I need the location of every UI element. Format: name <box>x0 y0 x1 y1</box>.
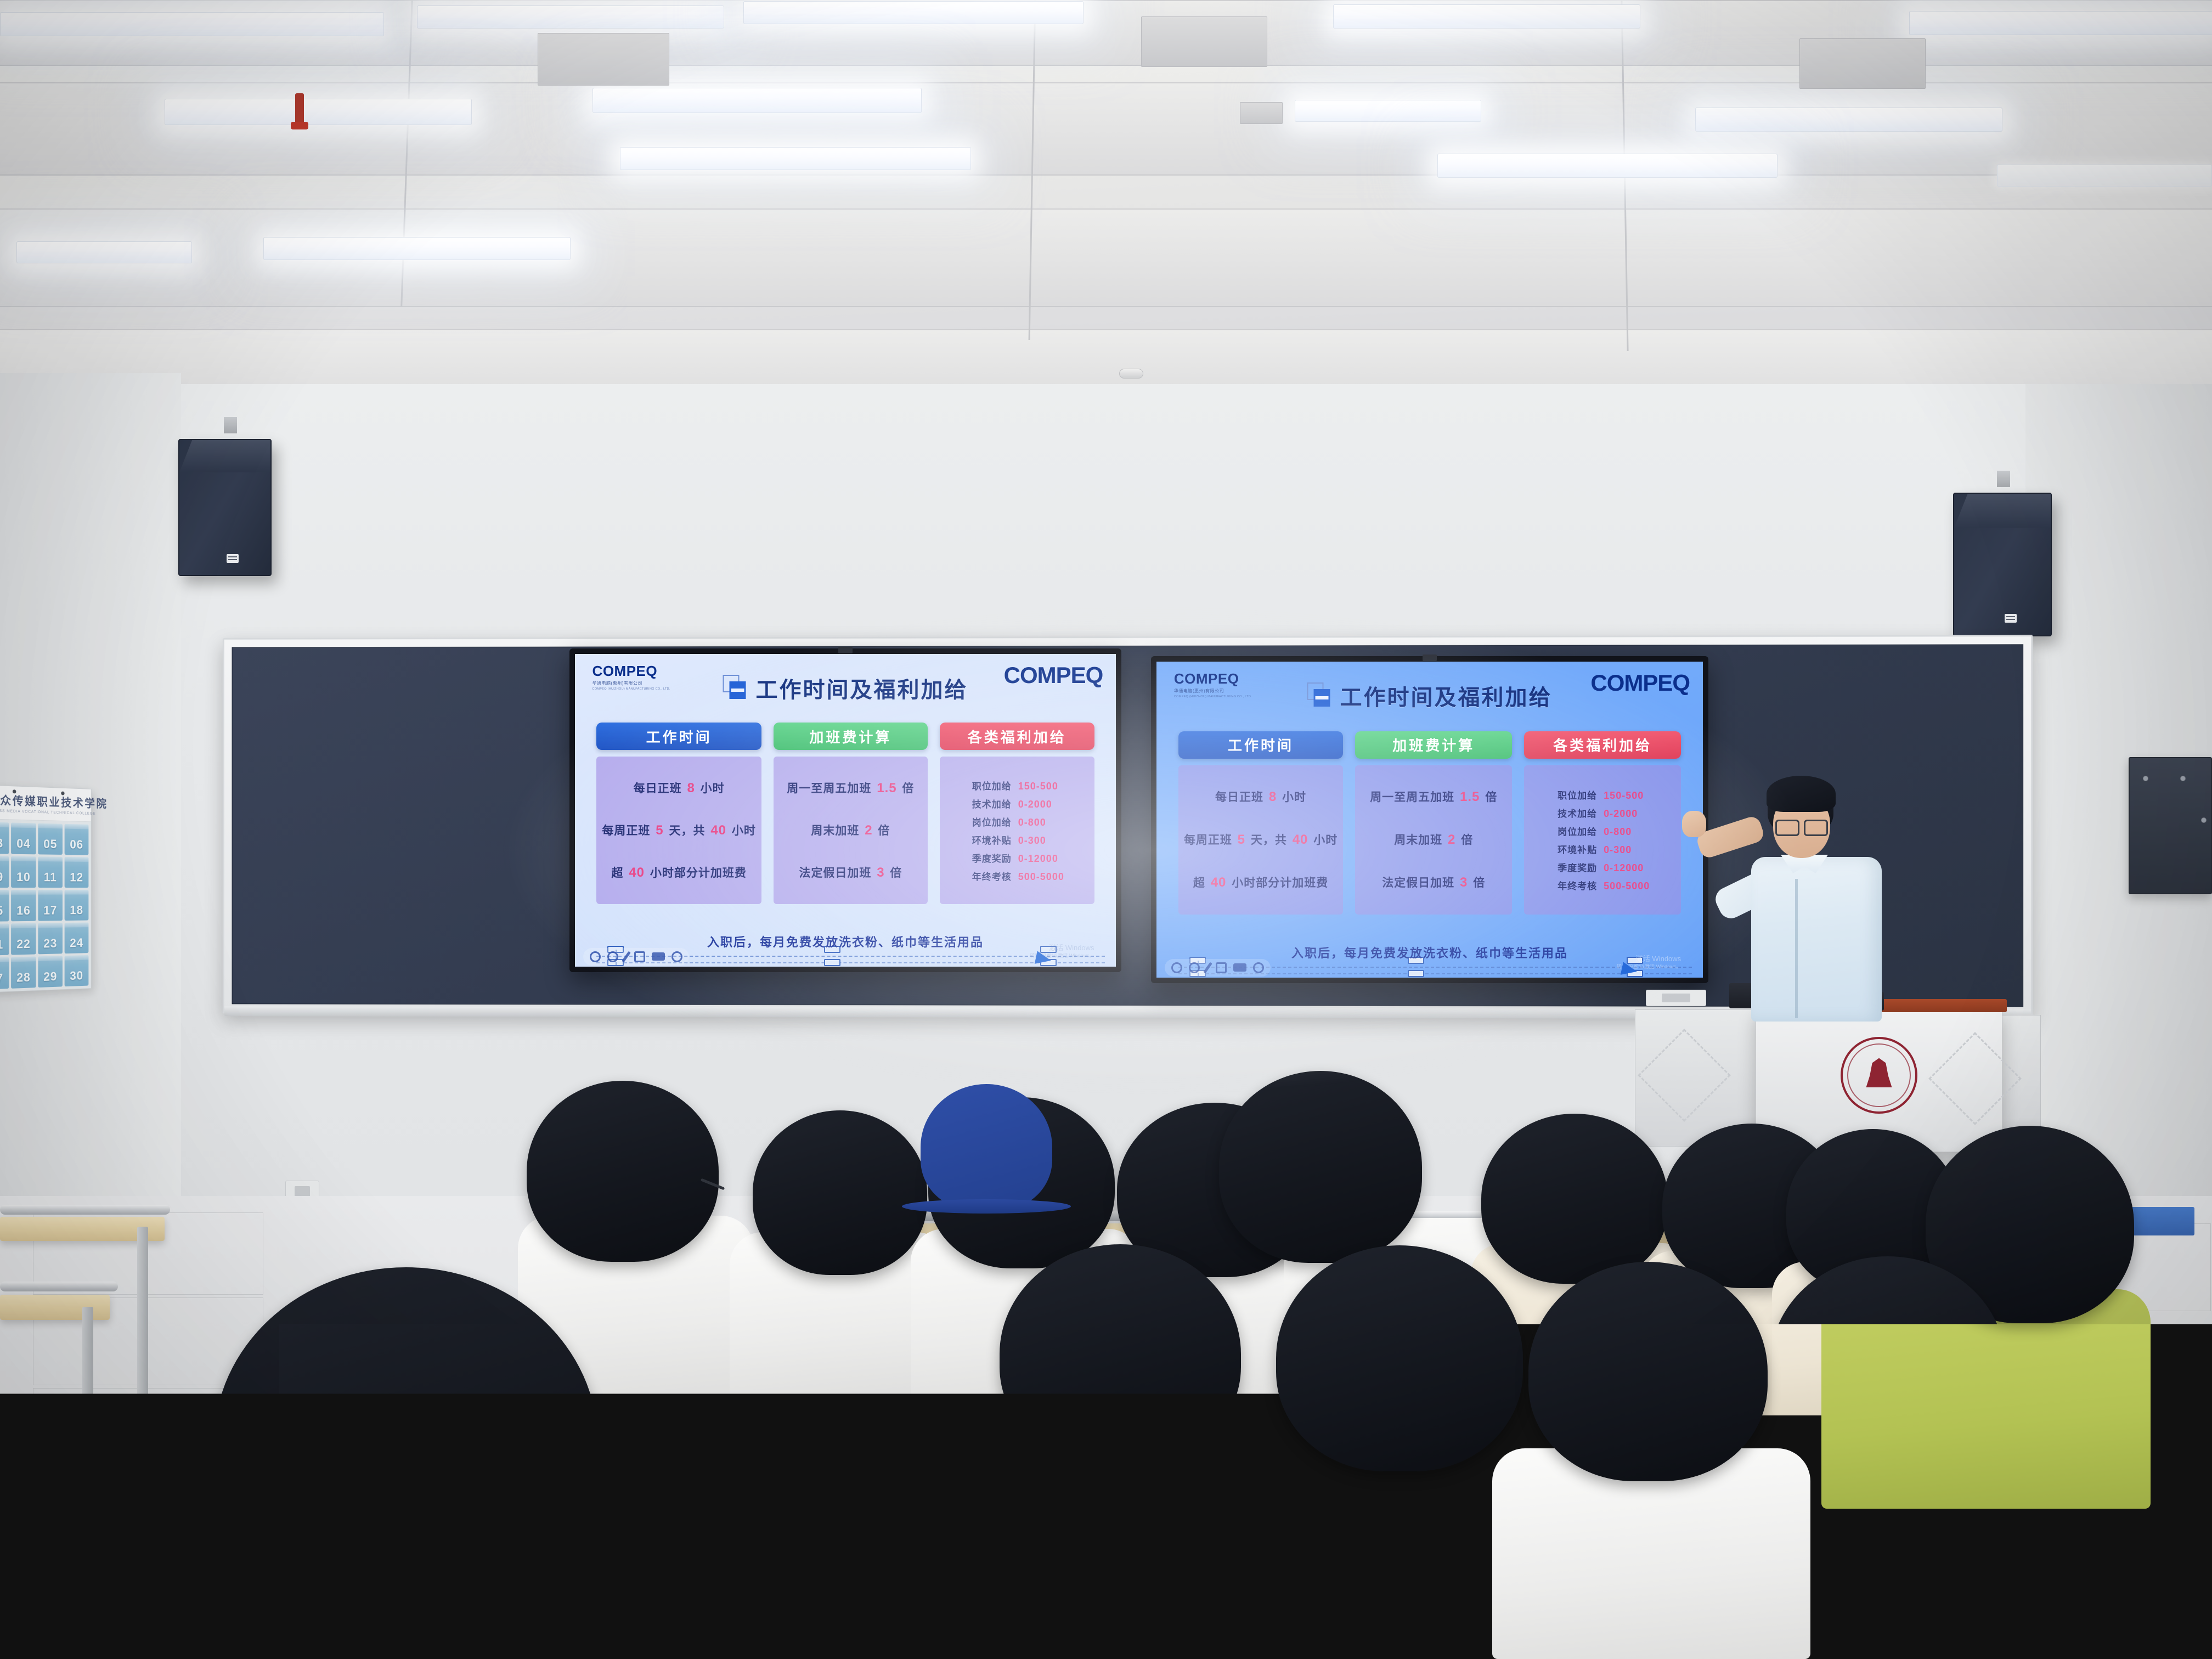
organizer-pocket[interactable]: 27 <box>0 957 9 990</box>
stacked-chair <box>2129 1207 2194 1235</box>
ceiling-vent <box>538 33 669 86</box>
ceiling-light <box>1909 11 2212 35</box>
audience-head <box>214 1267 598 1618</box>
organizer-pocket[interactable]: 30 <box>65 955 89 986</box>
compeq-logo-en: COMPEQ (HUIZHOU) MANUFACTURING CO., LTD. <box>592 687 670 691</box>
slide-footer-note: 入职后，每月免费发放洗衣粉、纸巾等生活用品 <box>707 933 984 950</box>
benefit-row: 环境补贴0-300 <box>1532 842 1673 856</box>
circle-icon[interactable] <box>1171 962 1182 973</box>
organizer-pocket-number: 17 <box>43 903 57 918</box>
smartboard-left[interactable]: COMPEQ华通电脑(惠州)有限公司COMPEQ (HUIZHOU) MANUF… <box>569 648 1121 972</box>
organizer-pocket-number: 29 <box>43 969 57 984</box>
organizer-pocket[interactable]: 03 <box>0 822 9 854</box>
slide-bullet: 周一至周五加班 1.5 倍 <box>1361 789 1506 805</box>
ceiling-vent <box>1240 102 1283 124</box>
compeq-logo-cn: 华通电脑(惠州)有限公司 <box>1174 688 1224 694</box>
ceiling-light <box>1437 154 1778 178</box>
audience-head <box>1481 1114 1668 1284</box>
organizer-pocket-number: 21 <box>0 937 3 952</box>
bench-row <box>0 1295 110 1320</box>
benefit-value: 0-2000 <box>1604 808 1656 820</box>
organizer-pocket-number: 15 <box>0 904 3 918</box>
slide-column-3: 各类福利加给职位加给150-500技术加给0-2000岗位加给0-800环境补贴… <box>1524 731 1681 915</box>
presenter-hand <box>1682 811 1706 837</box>
rect-icon[interactable] <box>1233 963 1246 972</box>
audience-head <box>1276 1245 1523 1471</box>
slide-bullet: 每周正班 5 天，共 40 小时 <box>1184 832 1338 848</box>
benefit-label: 技术加给 <box>1549 806 1597 820</box>
slide-bullet: 每周正班 5 天，共 40 小时 <box>602 822 755 839</box>
compeq-wordmark: COMPEQ <box>1590 670 1690 696</box>
bench-rail <box>0 1282 118 1291</box>
annotation-handle[interactable] <box>1408 970 1424 977</box>
benefit-row: 年终考核500-5000 <box>1532 878 1673 892</box>
slide-bullet: 法定假日加班 3 倍 <box>779 865 923 881</box>
compeq-logo-mark: COMPEQ <box>1174 672 1239 686</box>
presenter-shirt-placket <box>1795 879 1798 1018</box>
organizer-pocket[interactable]: 04 <box>11 822 36 854</box>
smartboard-camera <box>838 647 853 653</box>
benefit-row: 岗位加给0-800 <box>1532 824 1673 838</box>
column-header-2: 加班费计算 <box>1355 731 1512 759</box>
organizer-pocket[interactable]: 22 <box>11 923 36 955</box>
slide-surface-right[interactable]: COMPEQ华通电脑(惠州)有限公司COMPEQ (HUIZHOU) MANUF… <box>1156 662 1703 978</box>
smoke-detector <box>1119 369 1143 379</box>
column-body-2: 周一至周五加班 1.5 倍周末加班 2 倍法定假日加班 3 倍 <box>1355 765 1512 915</box>
benefit-value: 150-500 <box>1018 781 1071 792</box>
organizer-pocket[interactable]: 10 <box>11 856 36 888</box>
benefit-row: 技术加给0-2000 <box>947 797 1087 810</box>
slide-column-2: 加班费计算周一至周五加班 1.5 倍周末加班 2 倍法定假日加班 3 倍 <box>774 723 928 904</box>
document-square-icon <box>723 675 748 701</box>
column-header-2: 加班费计算 <box>774 723 928 750</box>
presenter-glasses <box>1775 820 1828 834</box>
organizer-pocket-number: 03 <box>0 836 3 850</box>
bench-leg <box>137 1227 148 1408</box>
column-body-1: 每日正班 8 小时每周正班 5 天，共 40 小时超 40 小时部分计加班费 <box>1178 765 1343 915</box>
mouse-cursor <box>1034 951 1052 967</box>
slide-bullet: 每日正班 8 小时 <box>602 780 755 797</box>
slide-column-1: 工作时间每日正班 8 小时每周正班 5 天，共 40 小时超 40 小时部分计加… <box>596 723 761 904</box>
organizer-pocket-number: 30 <box>70 968 83 983</box>
slide-column-3: 各类福利加给职位加给150-500技术加给0-2000岗位加给0-800环境补贴… <box>940 723 1094 904</box>
benefit-label: 岗位加给 <box>963 815 1012 828</box>
circle-icon[interactable] <box>607 951 618 962</box>
compeq-logo: COMPEQ华通电脑(惠州)有限公司COMPEQ (HUIZHOU) MANUF… <box>1174 672 1252 698</box>
organizer-pocket[interactable]: 16 <box>11 890 36 921</box>
presenter-shirt <box>1751 857 1882 1022</box>
podium-tray <box>1646 990 1706 1006</box>
column-body-3: 职位加给150-500技术加给0-2000岗位加给0-800环境补贴0-300季… <box>940 757 1094 904</box>
organizer-pocket-number: 05 <box>43 837 57 851</box>
organizer-pocket-number: 22 <box>16 936 31 951</box>
benefit-value: 0-800 <box>1018 817 1071 828</box>
eraser-icon[interactable] <box>1253 962 1264 973</box>
benefit-label: 职位加给 <box>963 778 1012 792</box>
slide-bullet: 周一至周五加班 1.5 倍 <box>779 780 923 797</box>
benefit-value: 0-300 <box>1604 844 1656 856</box>
organizer-pocket[interactable]: 29 <box>38 956 63 988</box>
slide-bullet: 法定假日加班 3 倍 <box>1361 874 1506 891</box>
slide-bullet: 每日正班 8 小时 <box>1184 789 1338 805</box>
organizer-pocket-number: 18 <box>70 903 83 917</box>
column-header-1: 工作时间 <box>1178 731 1343 759</box>
audience-head <box>1770 1256 2006 1474</box>
organizer-pocket-number: 27 <box>0 971 3 986</box>
presenter-hair-top <box>1767 776 1836 812</box>
select-icon[interactable] <box>1216 962 1227 973</box>
column-header-3: 各类福利加给 <box>940 723 1094 750</box>
slide-column-1: 工作时间每日正班 8 小时每周正班 5 天，共 40 小时超 40 小时部分计加… <box>1178 731 1343 915</box>
circle-icon[interactable] <box>590 951 601 962</box>
benefit-row: 季度奖励0-12000 <box>947 851 1087 865</box>
bench-leg <box>0 1492 14 1659</box>
bench-rail <box>0 1205 170 1215</box>
organizer-pocket[interactable]: 15 <box>0 890 9 922</box>
organizer-pocket[interactable]: 21 <box>0 923 9 956</box>
bench-leg <box>82 1307 93 1488</box>
ceiling-light <box>1295 100 1481 122</box>
benefit-value: 0-12000 <box>1604 862 1656 874</box>
ink-toolbar[interactable] <box>583 948 689 966</box>
benefit-row: 职位加给150-500 <box>1532 788 1673 802</box>
ceiling-light <box>743 1 1084 24</box>
slide-title-row: 工作时间及福利加给 <box>1307 680 1553 712</box>
speaker-mount <box>1997 471 2010 487</box>
audience-head <box>1528 1262 1768 1481</box>
benefit-label: 环境补贴 <box>1549 842 1597 856</box>
benefit-value: 0-300 <box>1018 835 1071 847</box>
benefit-label: 技术加给 <box>963 797 1012 810</box>
fire-sprinkler-pipe <box>295 93 304 124</box>
ceiling-light <box>1997 165 2212 187</box>
organizer-pocket-number: 04 <box>16 836 31 851</box>
organizer-header: 湖南大众传媒职业技术学院 HUNAN MASS MEDIA VOCATIONAL… <box>0 785 91 822</box>
select-icon[interactable] <box>634 951 645 962</box>
benefit-row: 岗位加给0-800 <box>947 815 1087 828</box>
ceiling-light <box>263 237 571 260</box>
benefit-value: 0-800 <box>1604 826 1656 838</box>
annotation-handle[interactable] <box>824 959 840 966</box>
ceiling-light <box>592 88 922 113</box>
organizer-pocket[interactable]: 23 <box>38 923 63 954</box>
presenter <box>1701 763 1931 1026</box>
ceiling-light <box>417 5 724 29</box>
benefit-label: 年终考核 <box>963 869 1012 883</box>
ceiling <box>0 0 2212 428</box>
organizer-pocket[interactable]: 11 <box>38 856 63 888</box>
audience-head <box>527 1081 719 1262</box>
organizer-pocket[interactable]: 28 <box>11 956 36 989</box>
slide-footer: 入职后，每月免费发放洗衣粉、纸巾等生活用品激活 Windows转到"设置"以激活… <box>1156 915 1703 978</box>
tshirt-graphic: ◻◻◻▨ ▨ <box>1152 1517 1251 1534</box>
pen-icon[interactable] <box>1203 962 1212 973</box>
column-body-2: 周一至周五加班 1.5 倍周末加班 2 倍法定假日加班 3 倍 <box>774 757 928 904</box>
ceiling-light <box>620 147 971 170</box>
benefit-label: 季度奖励 <box>1549 860 1597 874</box>
benefit-row: 职位加给150-500 <box>947 778 1087 792</box>
slide-bullet: 超 40 小时部分计加班费 <box>1184 874 1338 891</box>
compeq-logo: COMPEQ华通电脑(惠州)有限公司COMPEQ (HUIZHOU) MANUF… <box>592 664 670 691</box>
slide-columns: 工作时间每日正班 8 小时每周正班 5 天，共 40 小时超 40 小时部分计加… <box>1156 731 1703 915</box>
slide-column-2: 加班费计算周一至周五加班 1.5 倍周末加班 2 倍法定假日加班 3 倍 <box>1355 731 1512 915</box>
column-body-1: 每日正班 8 小时每周正班 5 天，共 40 小时超 40 小时部分计加班费 <box>596 757 761 904</box>
organizer-pocket-number: 10 <box>16 870 31 884</box>
column-body-3: 职位加给150-500技术加给0-2000岗位加给0-800环境补贴0-300季… <box>1524 765 1681 915</box>
slide-columns: 工作时间每日正班 8 小时每周正班 5 天，共 40 小时超 40 小时部分计加… <box>575 723 1116 904</box>
smartboard-right[interactable]: COMPEQ华通电脑(惠州)有限公司COMPEQ (HUIZHOU) MANUF… <box>1151 656 1708 983</box>
slide-title-row: 工作时间及福利加给 <box>723 672 968 704</box>
speaker-mount <box>224 417 237 433</box>
rect-icon[interactable] <box>652 952 665 961</box>
benefit-value: 0-2000 <box>1018 799 1071 810</box>
benefit-label: 岗位加给 <box>1549 824 1597 838</box>
audience-head <box>631 1426 894 1659</box>
organizer-pocket[interactable]: 06 <box>65 824 89 855</box>
ceiling-vent <box>1141 16 1267 67</box>
slide-footer: 入职后，每月免费发放洗衣粉、纸巾等生活用品激活 Windows转到"设置"以激活… <box>575 904 1116 967</box>
organizer-pocket[interactable]: 17 <box>38 890 63 921</box>
benefit-row: 季度奖励0-12000 <box>1532 860 1673 874</box>
compeq-wordmark: COMPEQ <box>1004 662 1103 689</box>
organizer-pocket-number: 24 <box>70 936 83 951</box>
wall-speaker-right <box>1953 493 2052 636</box>
audience-head <box>1219 1071 1422 1263</box>
ceiling-light <box>16 241 192 263</box>
slide-bullet: 周末加班 2 倍 <box>779 822 923 839</box>
benefit-value: 150-500 <box>1604 790 1656 802</box>
pen-icon[interactable] <box>622 951 631 962</box>
mouse-cursor <box>1621 962 1638 978</box>
audience-head <box>1000 1244 1241 1464</box>
ceiling-light <box>1695 108 2002 132</box>
wall-speaker-left <box>178 439 272 576</box>
organizer-pocket-number: 23 <box>43 936 57 951</box>
university-bell-emblem <box>1841 1037 1917 1114</box>
wall-pocket-organizer: 湖南大众传媒职业技术学院 HUNAN MASS MEDIA VOCATIONAL… <box>0 785 92 993</box>
circle-icon[interactable] <box>1189 962 1200 973</box>
ceiling-light <box>1333 4 1640 29</box>
organizer-pocket[interactable]: 24 <box>65 922 89 953</box>
organizer-pocket-number: 09 <box>0 870 3 884</box>
organizer-pocket[interactable]: 12 <box>65 857 89 888</box>
organizer-pocket-number: 16 <box>16 903 31 918</box>
benefit-label: 年终考核 <box>1549 878 1597 892</box>
wall-equipment-cabinet[interactable] <box>2129 757 2212 894</box>
organizer-pocket-number: 11 <box>44 870 57 884</box>
organizer-pocket[interactable]: 09 <box>0 856 9 888</box>
compeq-logo-cn: 华通电脑(惠州)有限公司 <box>592 680 642 686</box>
eraser-icon[interactable] <box>672 951 682 962</box>
slide-bullet: 周末加班 2 倍 <box>1361 832 1506 848</box>
benefit-label: 环境补贴 <box>963 833 1012 847</box>
slide-bullet: 超 40 小时部分计加班费 <box>602 865 755 881</box>
ceiling-light <box>0 12 384 36</box>
bucket-hat <box>921 1084 1052 1210</box>
ink-toolbar[interactable] <box>1165 959 1271 977</box>
benefit-label: 季度奖励 <box>963 851 1012 865</box>
benefit-row: 年终考核500-5000 <box>947 869 1087 883</box>
bench-leg <box>99 1481 114 1659</box>
organizer-pocket-number: 28 <box>16 970 31 985</box>
benefit-row: 技术加给0-2000 <box>1532 806 1673 820</box>
audience-head <box>753 1110 927 1275</box>
smartboard-camera <box>1423 654 1437 661</box>
slide-header: COMPEQ华通电脑(惠州)有限公司COMPEQ (HUIZHOU) MANUF… <box>1156 662 1703 731</box>
benefit-value: 500-5000 <box>1018 871 1071 883</box>
slide-title: 工作时间及福利加给 <box>756 672 968 704</box>
ceiling-light <box>165 99 472 125</box>
benefit-list: 职位加给150-500技术加给0-2000岗位加给0-800环境补贴0-300季… <box>1530 785 1675 895</box>
benefit-label: 职位加给 <box>1549 788 1597 802</box>
organizer-pocket[interactable]: 05 <box>38 823 63 855</box>
organizer-pocket-number: 06 <box>70 837 83 851</box>
document-square-icon <box>1307 682 1333 709</box>
compeq-logo-en: COMPEQ (HUIZHOU) MANUFACTURING CO., LTD. <box>1174 695 1252 698</box>
compeq-logo-mark: COMPEQ <box>592 664 658 678</box>
benefit-value: 500-5000 <box>1604 881 1656 892</box>
slide-title: 工作时间及福利加给 <box>1340 680 1553 712</box>
organizer-pocket-grid: 0304050609101112151617182122232427282930 <box>0 819 91 992</box>
organizer-pocket[interactable]: 18 <box>65 890 89 921</box>
lecture-hall-scene: 湖南大众传媒职业技术学院 HUNAN MASS MEDIA VOCATIONAL… <box>0 0 2212 1659</box>
slide-surface-left[interactable]: COMPEQ华通电脑(惠州)有限公司COMPEQ (HUIZHOU) MANUF… <box>575 654 1116 967</box>
benefit-list: 职位加给150-500技术加给0-2000岗位加给0-800环境补贴0-300季… <box>945 775 1089 886</box>
column-header-3: 各类福利加给 <box>1524 731 1681 759</box>
benefit-row: 环境补贴0-300 <box>947 833 1087 847</box>
benefit-value: 0-12000 <box>1018 853 1071 865</box>
slide-footer-note: 入职后，每月免费发放洗衣粉、纸巾等生活用品 <box>1291 944 1568 961</box>
slide-header: COMPEQ华通电脑(惠州)有限公司COMPEQ (HUIZHOU) MANUF… <box>575 654 1116 723</box>
organizer-pocket-number: 12 <box>70 870 83 884</box>
column-header-1: 工作时间 <box>596 723 761 750</box>
ceiling-vent <box>1799 38 1926 89</box>
